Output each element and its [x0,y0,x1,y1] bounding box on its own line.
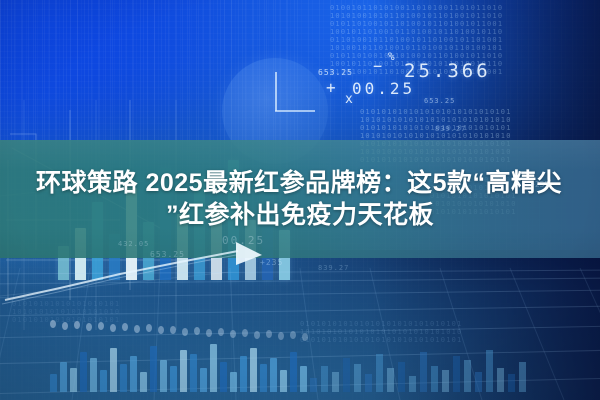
right-bar [420,352,427,392]
ticker-mid-value: 00.25 [352,79,415,98]
bottom-bar [250,348,257,392]
clock-hour-hand [275,72,277,111]
bottom-bar-chart [50,330,310,392]
bottom-bar [150,346,157,392]
right-bar [519,362,526,392]
bottom-bar [210,344,217,392]
bottom-bar [230,372,237,392]
right-bar [409,376,416,392]
dim-label-f: +255 [530,180,549,189]
bottom-bar [180,350,187,392]
bottom-bar [110,348,117,392]
bottom-bar [130,356,137,392]
bottom-bar [190,354,197,392]
right-bar [442,370,449,392]
right-bar [354,364,361,392]
bottom-bar [100,370,107,392]
bottom-bar [170,366,177,392]
right-bar [453,356,460,392]
right-bar [431,366,438,392]
bottom-bar [140,372,147,392]
banner-image: 01001011010100110101001101011010 1010100… [0,0,600,400]
ticker-faint-value-1: 653.25 [424,97,455,105]
ticker-small-value: 653.25 [318,68,353,77]
bottom-bar [160,360,167,392]
right-bar [486,350,493,392]
bottom-bar [290,352,297,392]
trend-arrow-line [0,230,280,310]
right-bar [497,368,504,392]
right-bar [321,366,328,392]
trend-arrowhead [236,242,262,265]
ticker-faint-value-2: 839.27 [435,125,466,133]
bottom-bar [60,362,67,392]
bottom-bar [220,362,227,392]
bottom-bar [260,364,267,392]
bottom-bar [80,352,87,392]
right-bar [376,354,383,392]
bottom-bar [50,374,57,392]
bottom-bar [240,356,247,392]
bottom-bar [280,370,287,392]
right-bar [464,360,471,392]
right-bar [343,358,350,392]
scatter-dot [74,321,80,329]
right-bar-chart [310,332,550,392]
ticker-percent-symbol: % [388,50,395,63]
right-bar [398,362,405,392]
right-bar [310,378,317,392]
ticker-minus-symbol: − [373,57,382,75]
scatter-dot [98,322,104,330]
right-bar [387,368,394,392]
bottom-bar [300,366,307,392]
bottom-bar [120,364,127,392]
ticker-plus-symbol: + [326,78,336,97]
bottom-bar [200,368,207,392]
ticker-big-value: 25.366 [404,60,491,82]
right-bar [508,374,515,392]
right-bar [475,372,482,392]
clock-minute-hand [275,110,315,112]
right-bar [332,372,339,392]
title-line-2: ”红参补出免疫力天花板 [166,200,434,230]
bottom-bar [270,358,277,392]
right-bar [365,374,372,392]
scatter-dot [62,322,68,330]
bottom-bar [70,368,77,392]
ticker-multiply-symbol: x [345,92,353,107]
title-line-1: 环球策路 2025最新红参品牌榜：这5款“高精尖 [36,168,564,198]
scatter-dot [50,320,56,328]
bottom-bar [90,358,97,392]
